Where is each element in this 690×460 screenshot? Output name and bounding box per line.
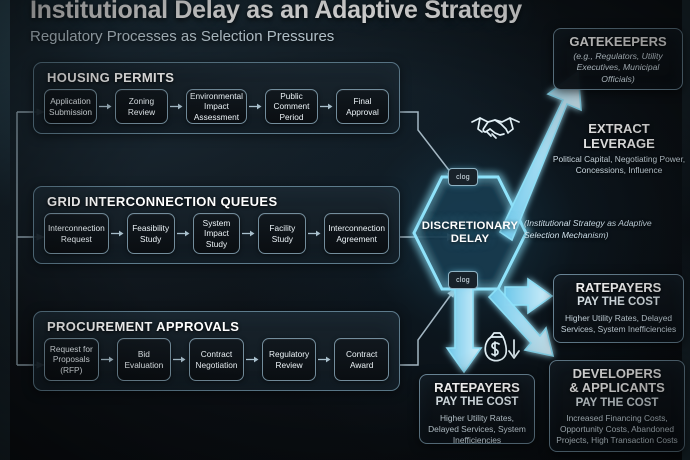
diagram-canvas: Institutional Delay as an Adaptive Strat… bbox=[0, 0, 690, 460]
vignette-overlay bbox=[0, 0, 690, 460]
